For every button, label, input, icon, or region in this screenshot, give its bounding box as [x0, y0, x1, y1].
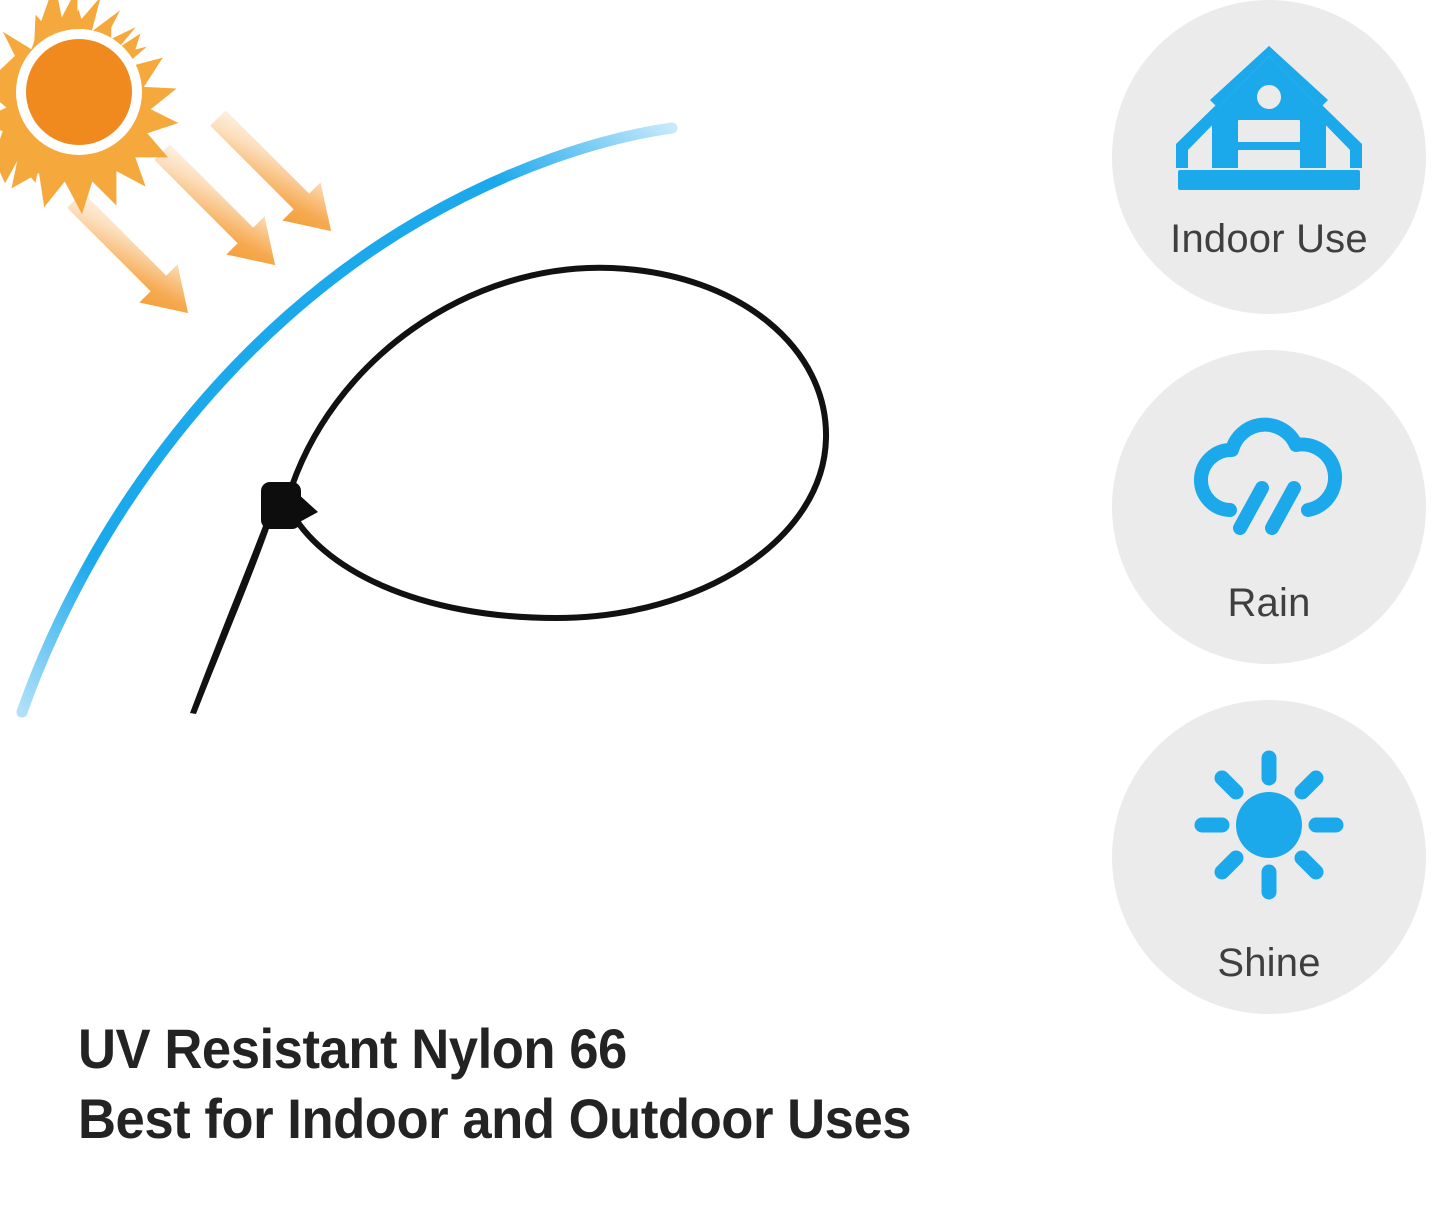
- cable-tie-tail: [190, 518, 272, 714]
- badge-label-rain: Rain: [1112, 583, 1426, 623]
- rain-cloud-icon: [1184, 412, 1354, 547]
- uv-arrow-2: [143, 133, 294, 284]
- sun-disc: [26, 39, 132, 145]
- badge-label-shine: Shine: [1112, 943, 1426, 983]
- cable-tie: [190, 268, 826, 714]
- cable-tie-head: [261, 482, 301, 529]
- badge-rain[interactable]: Rain: [1112, 350, 1426, 664]
- headline-line-2: Best for Indoor and Outdoor Uses: [78, 1084, 1018, 1154]
- sun-icon: [0, 0, 178, 214]
- product-infographic: Indoor Use Rain: [0, 0, 1432, 1211]
- uv-shield-arc: [22, 128, 672, 712]
- uv-arrow-1: [56, 181, 207, 332]
- badge-shine[interactable]: Shine: [1112, 700, 1426, 1014]
- uv-resistance-illustration: [0, 0, 1080, 1000]
- feature-badge-column: Indoor Use Rain: [1112, 0, 1432, 1020]
- badge-indoor-use[interactable]: Indoor Use: [1112, 0, 1426, 314]
- headline-line-3-cropped: [78, 1154, 1018, 1170]
- sun-shine-icon: [1194, 750, 1344, 905]
- headline-block: UV Resistant Nylon 66 Best for Indoor an…: [78, 1014, 1078, 1170]
- cable-tie-head-shoulder: [296, 492, 318, 524]
- headline-line-1: UV Resistant Nylon 66: [78, 1014, 1018, 1084]
- badge-label-indoor-use: Indoor Use: [1112, 219, 1426, 259]
- uv-arrow-3: [199, 99, 350, 250]
- house-icon: [1174, 42, 1364, 197]
- cable-tie-loop: [288, 268, 826, 618]
